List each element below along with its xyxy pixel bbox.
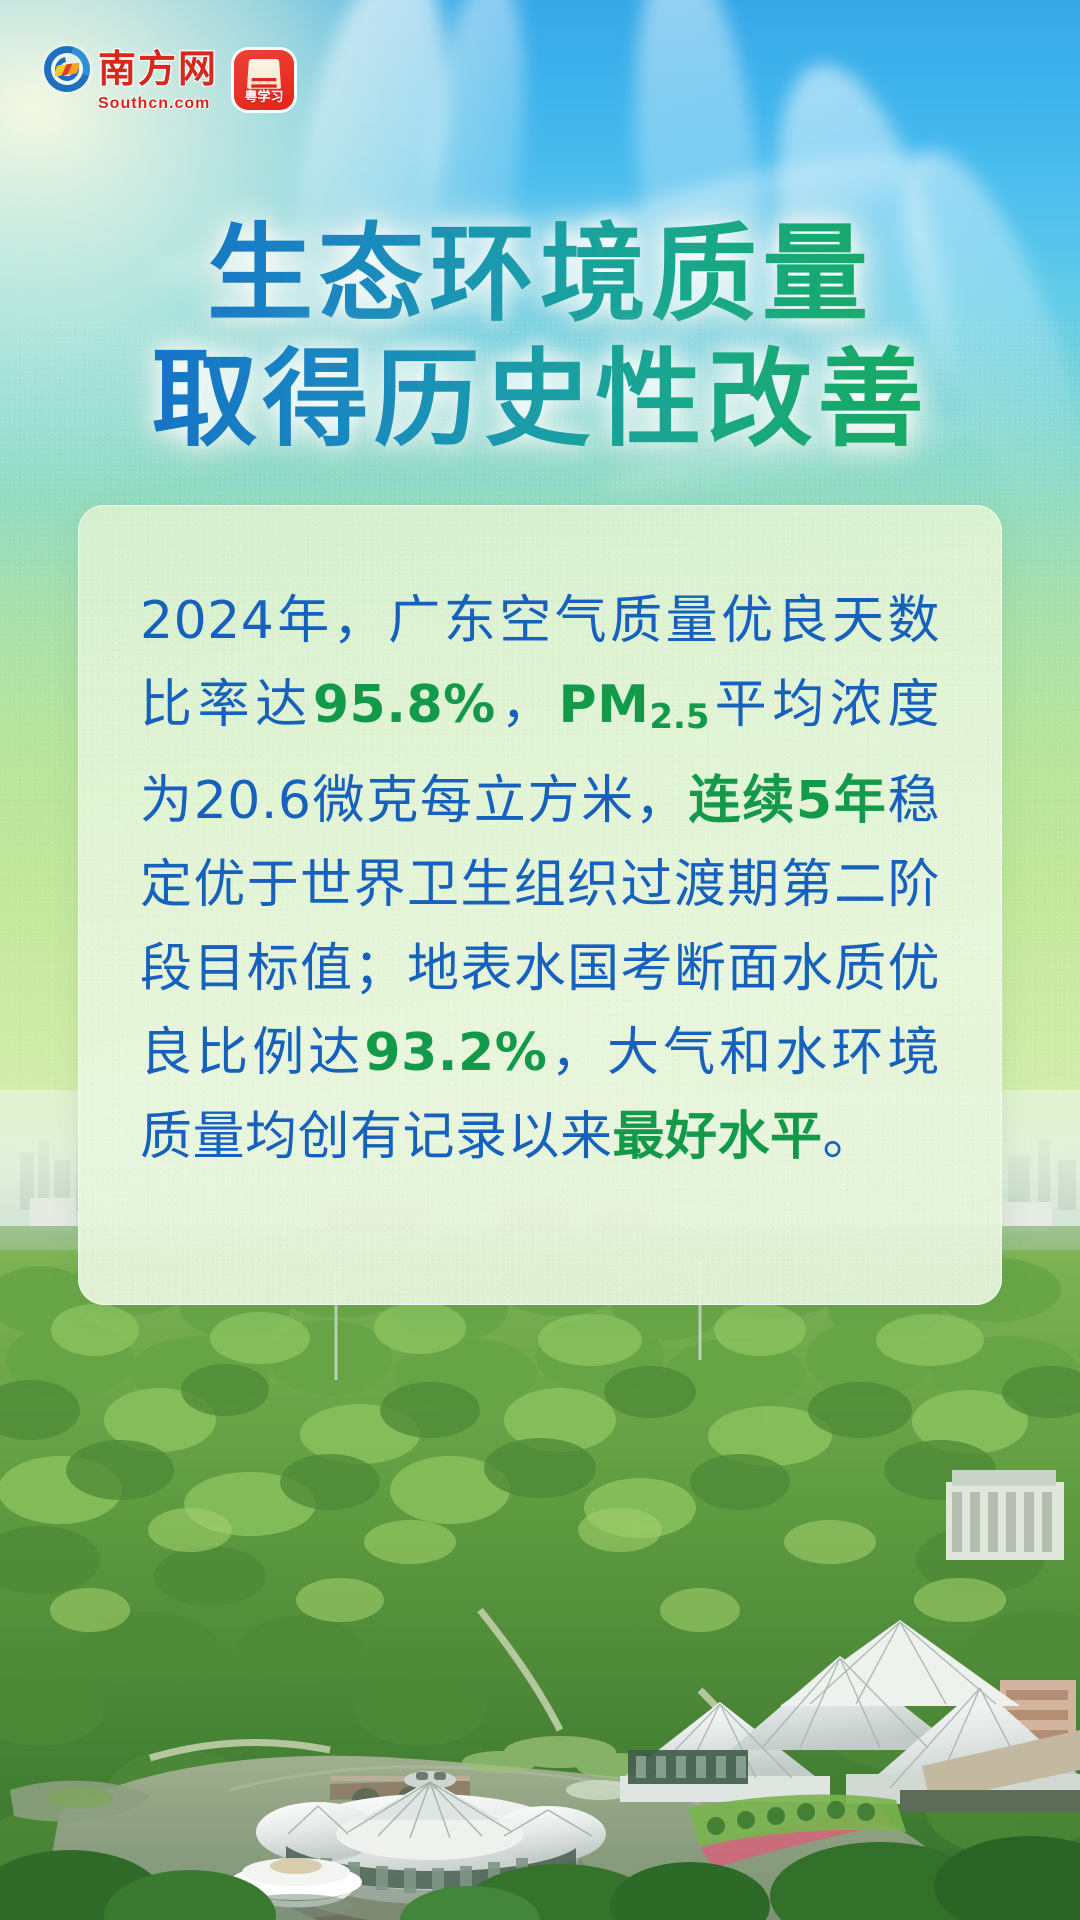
southcn-logo[interactable]: 南方网 Southcn.com	[44, 46, 218, 113]
card-paragraph: 2024年，广东空气质量优良天数比率达95.8%，PM2.5平均浓度为20.6微…	[78, 505, 1002, 1179]
stat-surface-water-good-rate: 93.2%	[364, 1023, 547, 1083]
header-logo-bar: 南方网 Southcn.com 粤学习	[44, 46, 294, 113]
poster-root: 南方网 Southcn.com 粤学习 生态环境质量 取得历史性改善 2024年…	[0, 0, 1080, 1920]
title-line-2: 取得历史性改善	[0, 337, 1080, 462]
stat-consecutive-years: 连续5年	[689, 771, 888, 831]
southcn-logo-cn-text: 南方网	[98, 50, 218, 88]
stat-air-quality-good-days-rate: 95.8%	[313, 675, 496, 735]
book-icon	[247, 59, 281, 89]
southcn-logo-en-text: Southcn.com	[98, 95, 210, 113]
yuexuexi-label: 粤学习	[245, 86, 284, 105]
statistics-text-card: 2024年，广东空气质量优良天数比率达95.8%，PM2.5平均浓度为20.6微…	[78, 505, 1002, 1305]
page-title: 生态环境质量 取得历史性改善	[0, 212, 1080, 462]
text-comma-1: ，	[496, 675, 559, 735]
southcn-swirl-icon	[44, 46, 90, 92]
yuexuexi-app-icon[interactable]: 粤学习	[234, 50, 294, 110]
pm-subscript: 2.5	[649, 697, 709, 737]
title-line-1: 生态环境质量	[0, 212, 1080, 337]
pm-label: PM	[558, 675, 649, 735]
stat-best-level: 最好水平	[613, 1107, 823, 1167]
text-period: 。	[823, 1107, 876, 1167]
